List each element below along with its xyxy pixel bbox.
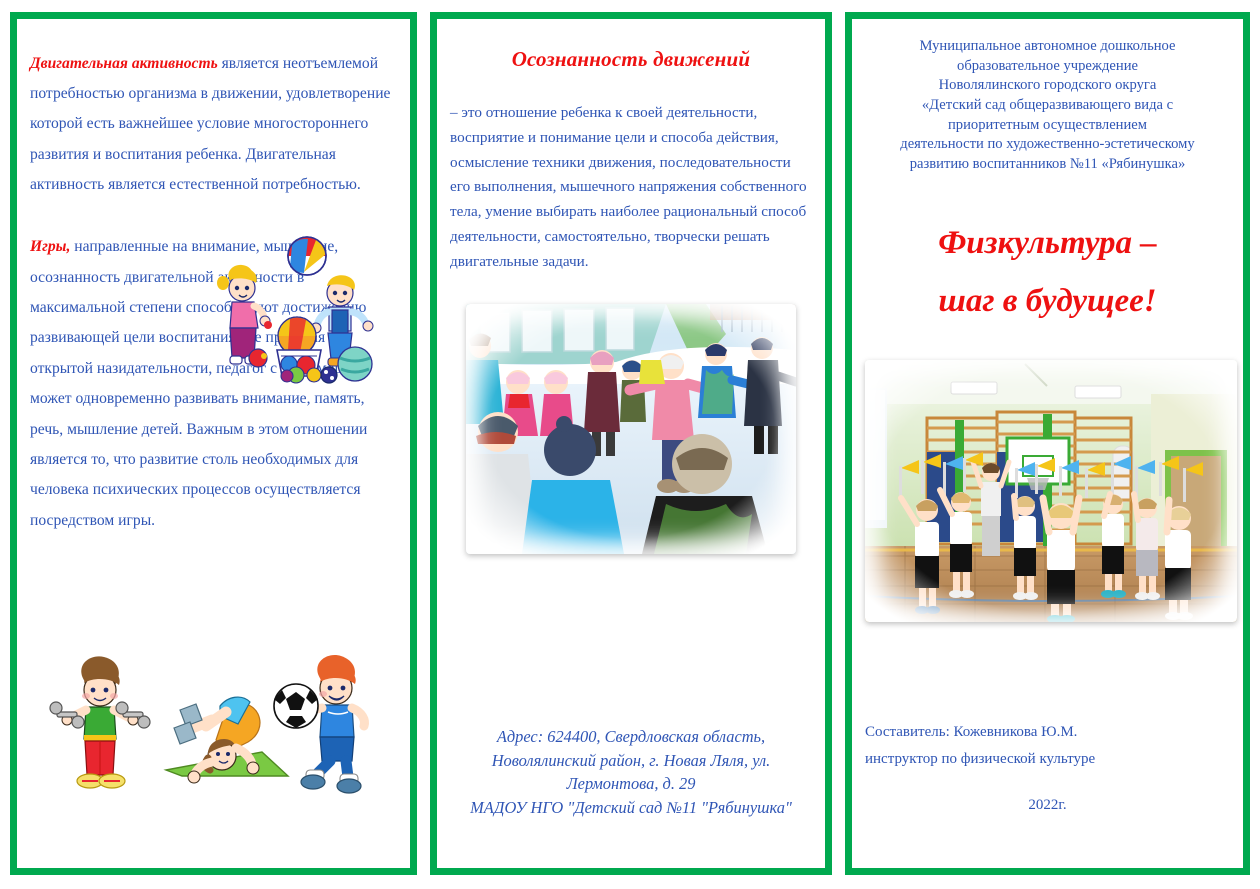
children-circle-game-in-snow-photo [466, 304, 796, 554]
org-line-7: развитию воспитанников №11 «Рябинушка» [865, 155, 1230, 175]
panel-right: Муниципальное автономное дошкольное обра… [845, 12, 1250, 875]
org-line-3: Новолялинского городского округа [865, 76, 1230, 96]
address-line-1: Адрес: 624400, Свердловская область, [450, 725, 812, 749]
trifold-brochure: Двигательная активность является неотъем… [0, 0, 1260, 889]
brochure-title: Физкультура – шаг в будущее! [865, 215, 1230, 331]
address-line-3: Лермонтова, д. 29 [450, 772, 812, 796]
brochure-title-line-1: Физкультура – [865, 215, 1230, 273]
paragraph-motor-activity-rest: является неотъемлемой потребностью орган… [30, 55, 390, 194]
credit-line-1: Составитель: Кожевникова Ю.М. [865, 722, 1230, 744]
organization-name: Муниципальное автономное дошкольное обра… [865, 37, 1230, 175]
credit-line-2: инструктор по физической культуре [865, 749, 1230, 771]
credit-block: Составитель: Кожевникова Ю.М. инструктор… [865, 716, 1230, 815]
org-line-1: Муниципальное автономное дошкольное [865, 37, 1230, 57]
children-doing-sports-icon [30, 650, 398, 800]
address-line-2: Новолялинский район, г. Новая Ляля, ул. [450, 749, 812, 773]
address-line-4: МАДОУ НГО "Детский сад №11 "Рябинушка" [450, 796, 812, 820]
org-line-4: «Детский сад общеразвивающего вида с [865, 96, 1230, 116]
lead-phrase-motor-activity: Двигательная активность [30, 55, 218, 72]
org-line-6: деятельности по художественно-эстетическ… [865, 135, 1230, 155]
panel-left: Двигательная активность является неотъем… [10, 12, 417, 875]
children-with-flags-in-gym-photo [865, 360, 1237, 622]
paragraph-motor-activity: Двигательная активность является неотъем… [30, 49, 397, 201]
org-line-2: образовательное учреждение [865, 57, 1230, 77]
org-line-5: приоритетным осуществлением [865, 116, 1230, 136]
heading-awareness-of-movements: Осознанность движений [450, 47, 812, 72]
paragraph-awareness-body: – это отношение ребенка к своей деятельн… [450, 101, 812, 274]
brochure-title-line-2: шаг в будущее! [865, 273, 1230, 331]
lead-phrase-games: Игры, [30, 238, 70, 255]
panel-middle: Осознанность движений – это отношение ре… [430, 12, 832, 875]
address-block: Адрес: 624400, Свердловская область, Нов… [450, 725, 812, 820]
year-label: 2022г. [865, 797, 1230, 814]
children-playing-with-balls-icon [192, 236, 397, 386]
